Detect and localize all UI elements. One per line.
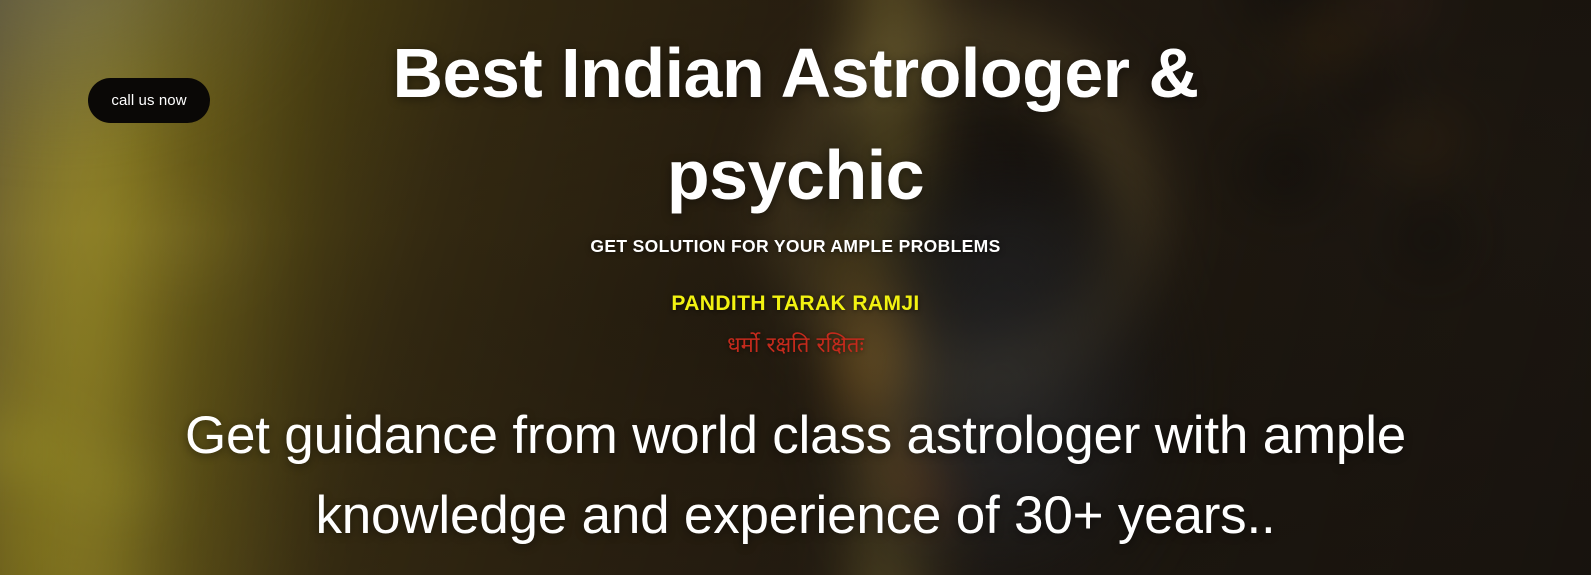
hero-banner: call us now Best Indian Astrologer & psy… [0, 0, 1591, 575]
hero-tagline-line-2: knowledge and experience of 30+ years.. [315, 486, 1275, 545]
hero-content: call us now Best Indian Astrologer & psy… [0, 0, 1591, 575]
astrologer-name: PANDITH TARAK RAMJI [0, 292, 1591, 316]
sanskrit-motto: धर्मो रक्षति रक्षितः [0, 332, 1591, 360]
hero-subcaption: GET SOLUTION FOR YOUR AMPLE PROBLEMS [0, 236, 1591, 257]
hero-tagline-line-1: Get guidance from world class astrologer… [185, 406, 1406, 465]
call-us-now-button[interactable]: call us now [88, 78, 210, 123]
hero-tagline: Get guidance from world class astrologer… [131, 396, 1461, 555]
page-title-line-1: Best Indian Astrologer & [356, 22, 1236, 124]
call-us-now-label: call us now [111, 92, 186, 109]
page-title: Best Indian Astrologer & psychic [356, 22, 1236, 226]
page-title-line-2: psychic [356, 124, 1236, 226]
